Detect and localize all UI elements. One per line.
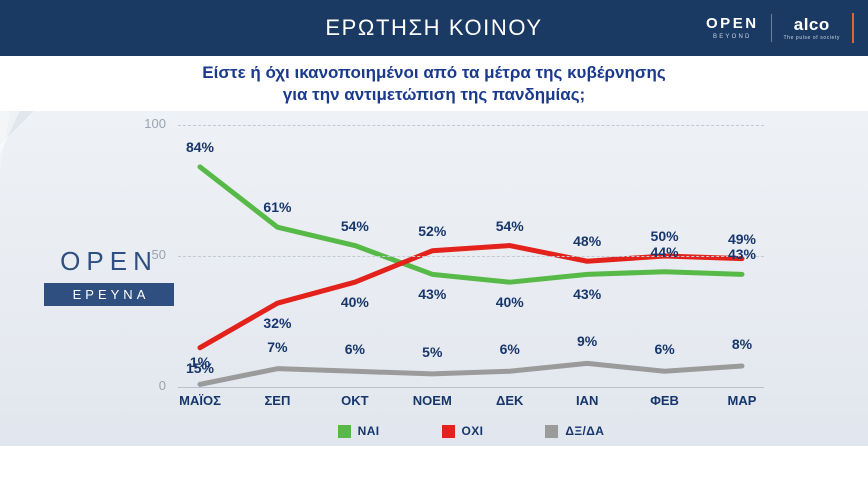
x-axis-label-ΦΕΒ: ΦΕΒ [650,393,679,408]
gridline-0 [178,387,764,388]
data-label-ΟΧΙ-ΣΕΠ: 32% [263,315,291,331]
alco-logo: alco The pulse of society [784,16,840,41]
gridline-100 [178,125,764,126]
chart-legend: ΝΑΙΟΧΙΔΞ/ΔΑ [178,421,764,441]
data-label-ΝΑΙ-ΜΑΪΟΣ: 84% [186,139,214,155]
line-series-ΔΞ/ΔΑ [200,363,742,384]
data-label-ΝΑΙ-ΟΚΤ: 54% [341,218,369,234]
orange-accent-rule [852,13,854,43]
data-label-ΔΞ/ΔΑ-ΜΑΡ: 8% [732,336,752,352]
watermark-erevna-text: ΕΡΕΥΝΑ [44,283,174,306]
data-label-ΝΑΙ-ΝΟΕΜ: 43% [418,286,446,302]
data-label-ΟΧΙ-ΦΕΒ: 50% [651,228,679,244]
data-label-ΝΑΙ-ΣΕΠ: 61% [263,199,291,215]
data-label-ΔΞ/ΔΑ-ΝΟΕΜ: 5% [422,344,442,360]
x-axis-label-ΜΑΪΟΣ: ΜΑΪΟΣ [179,393,221,408]
x-axis-label-ΙΑΝ: ΙΑΝ [576,393,598,408]
x-axis-label-ΟΚΤ: ΟΚΤ [341,393,368,408]
legend-label-ΝΑΙ: ΝΑΙ [358,424,380,438]
y-tick-label-0: 0 [136,378,166,393]
x-axis-labels: ΜΑΪΟΣΣΕΠΟΚΤΝΟΕΜΔΕΚΙΑΝΦΕΒΜΑΡ [178,393,764,413]
data-label-ΟΧΙ-ΔΕΚ: 54% [496,218,524,234]
x-axis-label-ΣΕΠ: ΣΕΠ [264,393,290,408]
open-beyond-logo: OPEN BEYOND [706,16,759,40]
data-label-ΟΧΙ-ΙΑΝ: 48% [573,233,601,249]
y-tick-label-100: 100 [136,116,166,131]
data-label-ΔΞ/ΔΑ-ΙΑΝ: 9% [577,333,597,349]
brand-divider [771,14,772,42]
y-tick-label-50: 50 [136,247,166,262]
legend-item-ΔΞ/ΔΑ[interactable]: ΔΞ/ΔΑ [545,421,604,441]
legend-label-ΟΧΙ: ΟΧΙ [462,424,484,438]
alco-logo-text: alco [794,16,830,33]
legend-swatch-ΔΞ/ΔΑ [545,425,558,438]
legend-swatch-ΝΑΙ [338,425,351,438]
x-axis-label-ΝΟΕΜ: ΝΟΕΜ [413,393,452,408]
header-bar: ΕΡΩΤΗΣΗ ΚΟΙΝΟΥ OPEN BEYOND alco The puls… [0,0,868,56]
question-line-1: Είστε ή όχι ικανοποιημένοι από τα μέτρα … [202,62,665,84]
data-label-ΝΑΙ-ΔΕΚ: 40% [496,294,524,310]
alco-tagline: The pulse of society [784,36,840,41]
data-label-ΝΑΙ-ΦΕΒ: 44% [651,244,679,260]
data-label-ΝΑΙ-ΜΑΡ: 43% [728,246,756,262]
data-label-ΔΞ/ΔΑ-ΜΑΪΟΣ: 1% [190,354,210,370]
brand-logos: OPEN BEYOND alco The pulse of society [706,10,854,46]
plot-area: 05010084%61%54%43%40%43%44%43%15%32%40%5… [178,125,764,387]
question-line-2: για την αντιμετώπιση της πανδημίας; [283,84,585,106]
data-label-ΟΧΙ-ΟΚΤ: 40% [341,294,369,310]
screenshot-root: ΕΡΩΤΗΣΗ ΚΟΙΝΟΥ OPEN BEYOND alco The puls… [0,0,868,488]
data-label-ΔΞ/ΔΑ-ΣΕΠ: 7% [267,339,287,355]
data-label-ΔΞ/ΔΑ-ΔΕΚ: 6% [500,341,520,357]
panel-footer-bar [0,446,868,488]
legend-label-ΔΞ/ΔΑ: ΔΞ/ΔΑ [565,424,604,438]
line-series-ΟΧΙ [200,246,742,348]
x-axis-label-ΔΕΚ: ΔΕΚ [496,393,523,408]
legend-item-ΝΑΙ[interactable]: ΝΑΙ [338,421,380,441]
chart-panel: OPEN ΕΡΕΥΝΑ 05010084%61%54%43%40%43%44%4… [0,111,868,488]
page-title: ΕΡΩΤΗΣΗ ΚΟΙΝΟΥ [325,15,542,41]
beyond-logo-text: BEYOND [713,34,752,40]
data-label-ΟΧΙ-ΜΑΡ: 49% [728,231,756,247]
legend-item-ΟΧΙ[interactable]: ΟΧΙ [442,421,484,441]
data-label-ΟΧΙ-ΝΟΕΜ: 52% [418,223,446,239]
data-label-ΝΑΙ-ΙΑΝ: 43% [573,286,601,302]
legend-swatch-ΟΧΙ [442,425,455,438]
data-label-ΔΞ/ΔΑ-ΦΕΒ: 6% [654,341,674,357]
question-band: Είστε ή όχι ικανοποιημένοι από τα μέτρα … [0,56,868,111]
data-label-ΔΞ/ΔΑ-ΟΚΤ: 6% [345,341,365,357]
open-logo-text: OPEN [706,16,759,31]
line-series-ΝΑΙ [200,167,742,282]
x-axis-label-ΜΑΡ: ΜΑΡ [728,393,757,408]
